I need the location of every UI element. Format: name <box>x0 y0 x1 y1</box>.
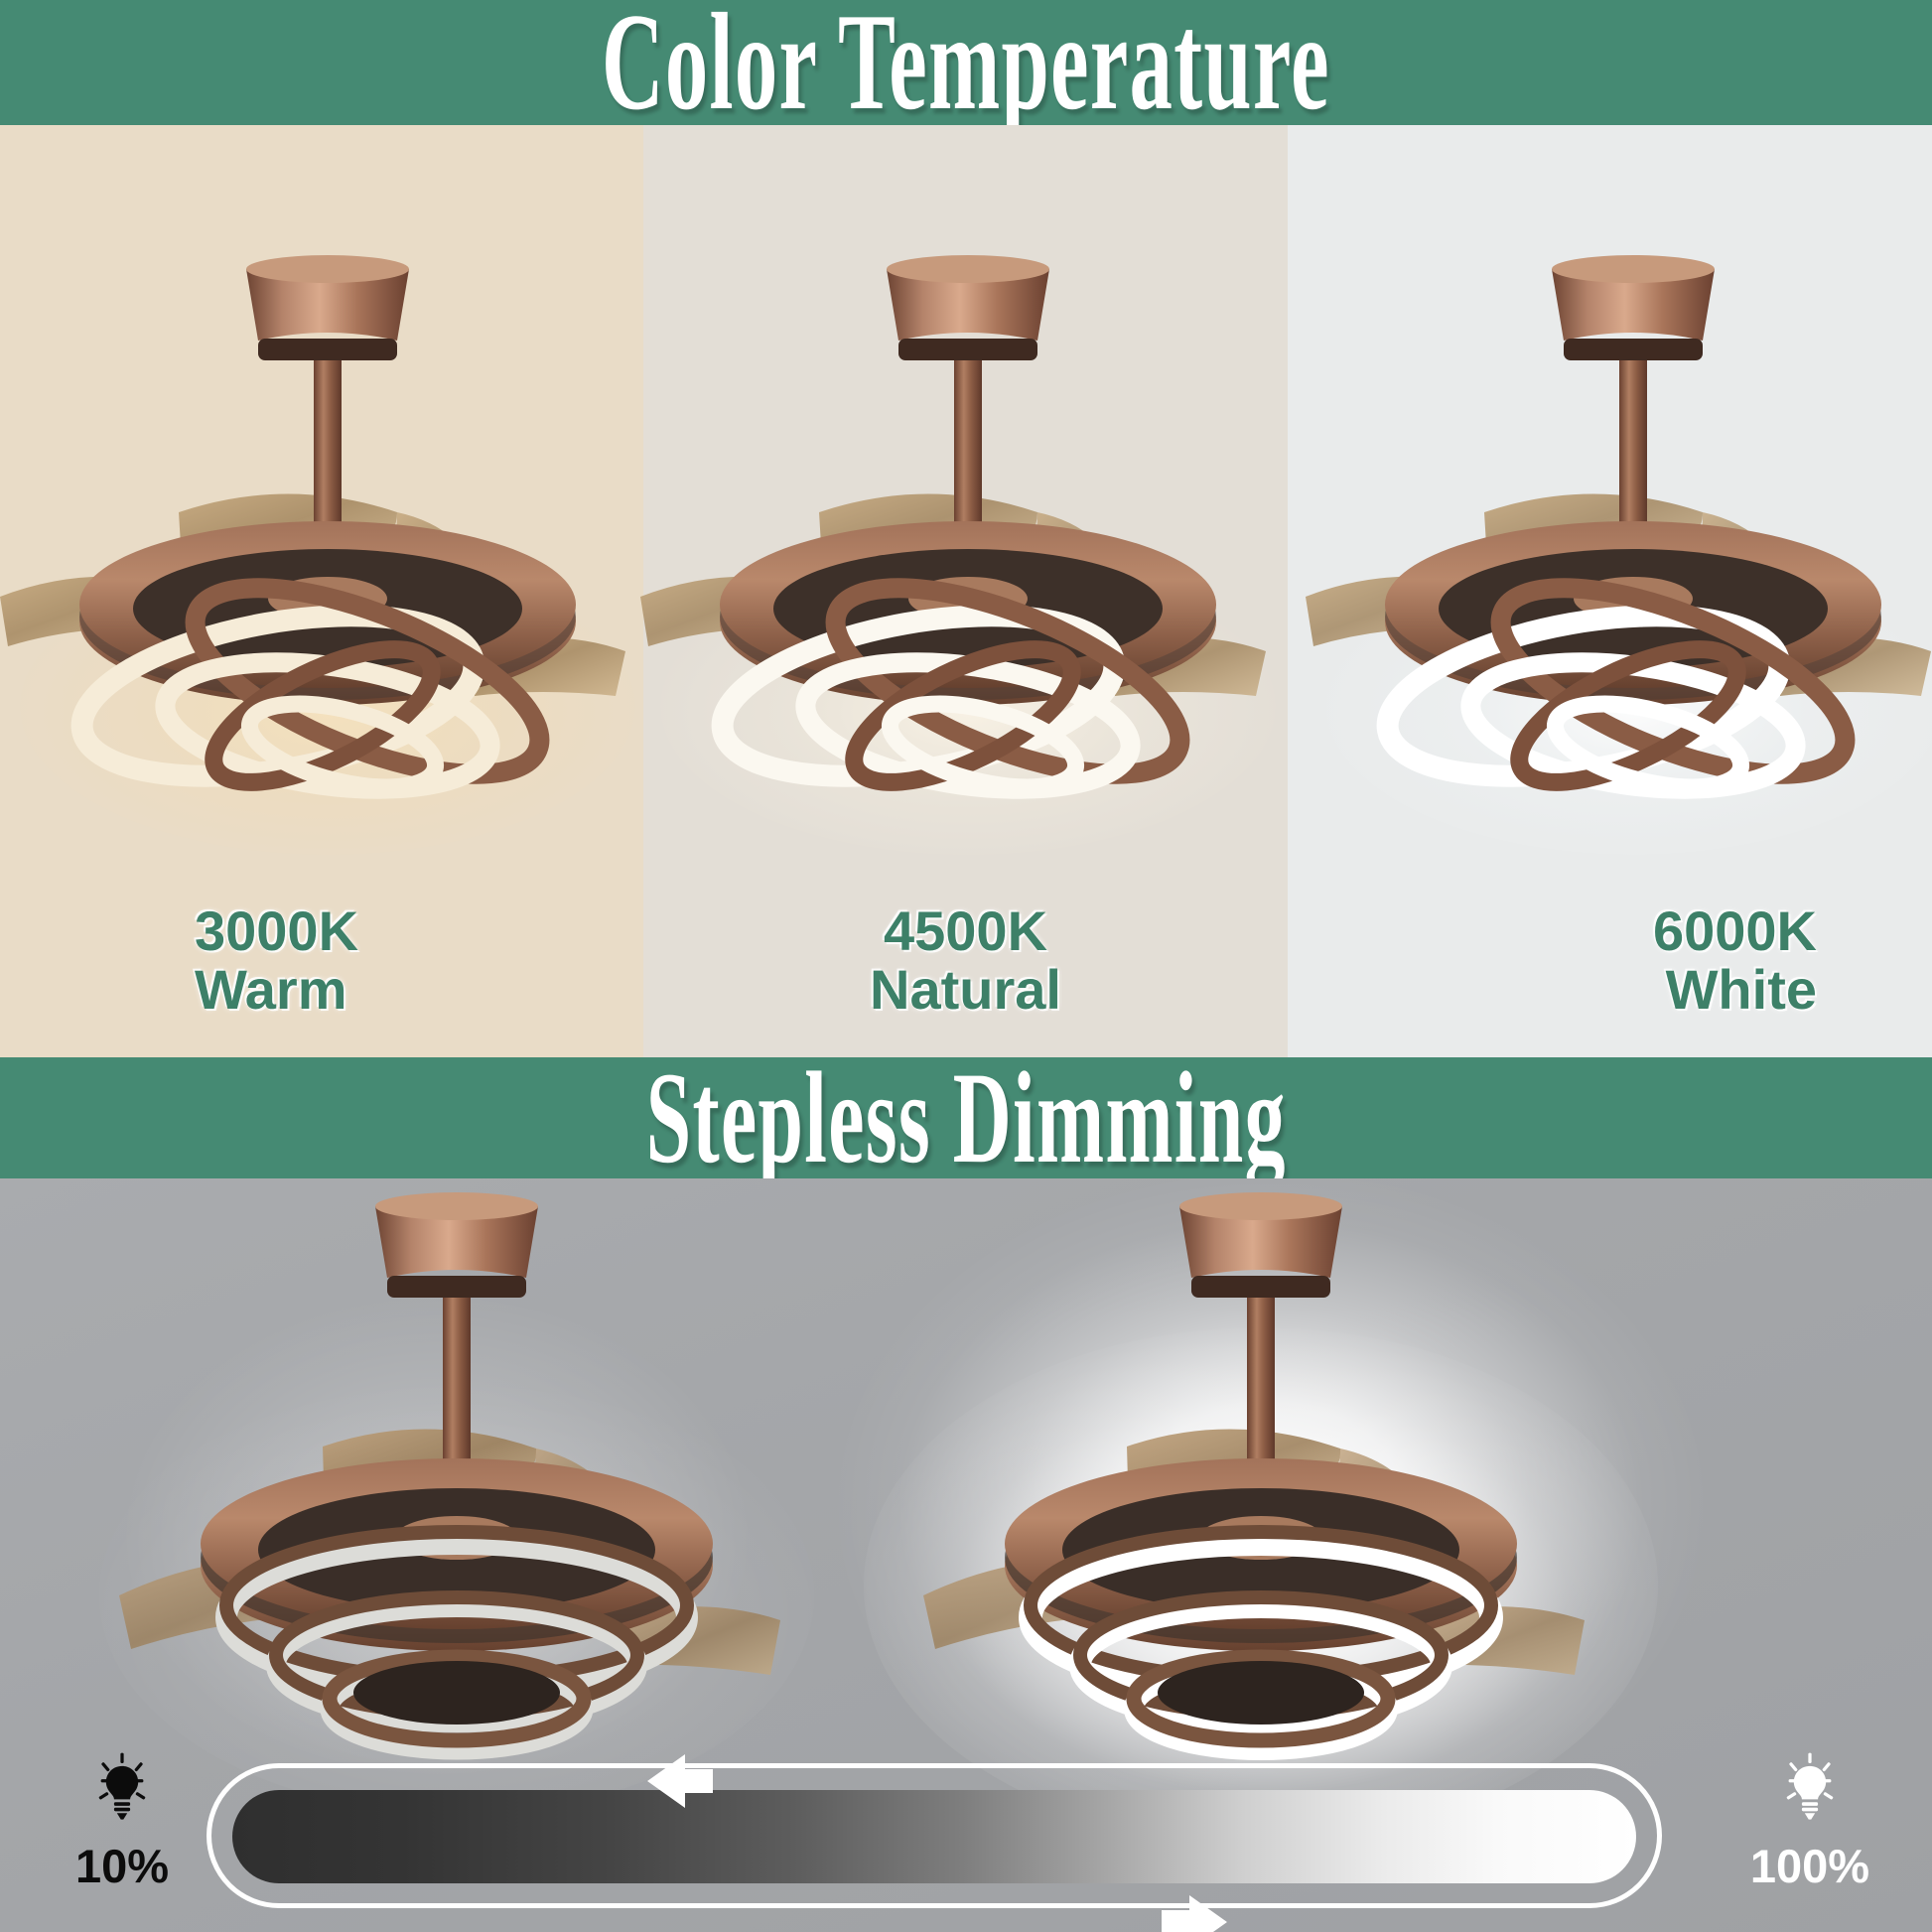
slider-gradient-fill[interactable] <box>232 1790 1636 1883</box>
ceiling-fan-bright <box>864 1178 1678 1804</box>
dim-max-group: 100% <box>1735 1752 1884 1893</box>
lightbulb-dim-icon <box>85 1752 159 1826</box>
banner-top-title: Color Temperature <box>602 0 1330 125</box>
color-temp-panel-6000k: 6000K White <box>1288 125 1932 1057</box>
color-temp-panel-4500k: 4500K Natural <box>643 125 1288 1057</box>
arrow-left-icon[interactable] <box>641 1744 715 1818</box>
ceiling-fan-dim <box>60 1178 874 1804</box>
label-4500k: 4500K Natural <box>643 901 1288 1020</box>
banner-color-temperature: Color Temperature <box>0 0 1932 125</box>
fan-illustration <box>1236 229 1932 865</box>
arrow-right-icon[interactable] <box>1160 1885 1233 1932</box>
fan-illustration-bright <box>864 1178 1678 1804</box>
dimming-slider-track[interactable] <box>207 1746 1662 1925</box>
fan-illustration-dim <box>60 1178 874 1804</box>
infographic-page: Color Temperature <box>0 0 1932 1932</box>
kelvin-name-4500k: Natural <box>643 960 1288 1019</box>
dim-min-label: 10% <box>48 1839 197 1893</box>
banner-stepless-dimming: Stepless Dimming <box>0 1057 1932 1178</box>
label-6000k: 6000K White <box>1288 901 1932 1020</box>
color-temperature-row: 3000K Warm <box>0 125 1932 1057</box>
stepless-dimming-section: 10% <box>0 1178 1932 1932</box>
dim-min-group: 10% <box>48 1752 197 1893</box>
kelvin-value-4500k: 4500K <box>643 901 1288 960</box>
kelvin-name-3000k: Warm <box>195 960 643 1019</box>
lightbulb-bright-icon <box>1773 1752 1847 1826</box>
dimming-slider-control[interactable]: 10% <box>0 1746 1932 1925</box>
dim-max-label: 100% <box>1735 1839 1884 1893</box>
kelvin-name-6000k: White <box>1288 960 1817 1019</box>
kelvin-value-6000k: 6000K <box>1288 901 1817 960</box>
label-3000k: 3000K Warm <box>0 901 643 1020</box>
banner-mid-title: Stepless Dimming <box>645 1057 1286 1178</box>
color-temp-panel-3000k: 3000K Warm <box>0 125 643 1057</box>
ceiling-fan-6000k <box>1236 229 1932 865</box>
kelvin-value-3000k: 3000K <box>195 901 643 960</box>
